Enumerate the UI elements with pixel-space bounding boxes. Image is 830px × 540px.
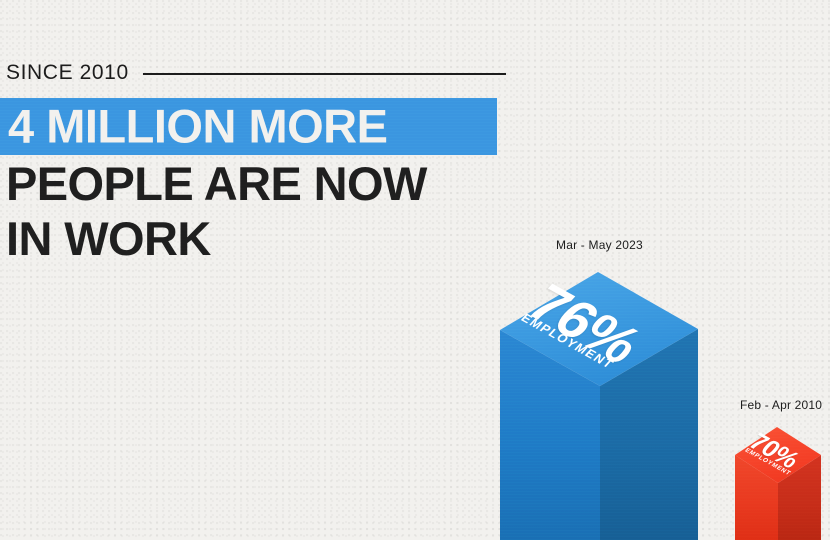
bar-2010-svg <box>0 0 830 540</box>
bar-3d-2010 <box>0 0 830 540</box>
infographic-poster: SINCE 2010 4 MILLION MORE PEOPLE ARE NOW… <box>0 0 830 540</box>
